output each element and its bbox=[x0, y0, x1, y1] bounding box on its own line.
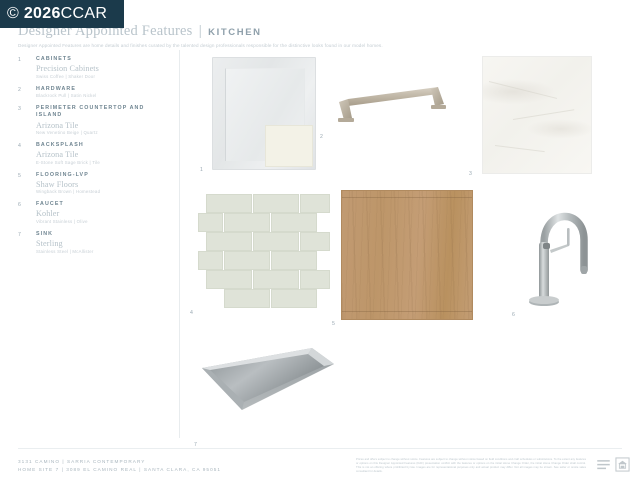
header-description: Designer Appointed Features are home det… bbox=[18, 43, 626, 48]
tile-brick bbox=[300, 232, 330, 251]
backsplash-tile-image: 4 bbox=[194, 192, 336, 308]
features-list: 1 CABINETS Precision Cabinets Swiss Coff… bbox=[18, 56, 170, 261]
copyright-icon: © bbox=[7, 5, 19, 22]
feature-brand: Arizona Tile bbox=[36, 121, 170, 130]
tile-brick bbox=[253, 270, 299, 289]
plank-seam bbox=[342, 197, 472, 198]
quartz-vein bbox=[489, 81, 557, 99]
footer-logos bbox=[596, 457, 630, 472]
feature-number: 7 bbox=[18, 232, 21, 238]
feature-item-backsplash: 4 BACKSPLASH Arizona Tile E-Stone Soft S… bbox=[18, 142, 170, 165]
feature-item-sink: 7 SINK Sterling Stainless Steel | McAlli… bbox=[18, 231, 170, 254]
feature-detail: E-Stone Soft Sage Brick | Tile bbox=[36, 160, 170, 165]
footer-disclaimer-block: Prices and offers subject to change with… bbox=[356, 458, 586, 474]
feature-number: 1 bbox=[18, 57, 21, 63]
tile-brick bbox=[206, 194, 252, 213]
feature-category: FAUCET bbox=[36, 201, 170, 208]
tile-brick bbox=[198, 251, 223, 270]
sink-image: 7 bbox=[196, 340, 338, 422]
feature-item-hardware: 2 HARDWARE Blackrock Pull | Satin Nickel bbox=[18, 86, 170, 99]
tile-brick bbox=[253, 232, 299, 251]
lvp-flooring-image: 5 bbox=[341, 190, 473, 320]
quartz-vein bbox=[513, 109, 574, 120]
tile-brick bbox=[253, 194, 299, 213]
tile-brick bbox=[206, 232, 252, 251]
feature-number: 3 bbox=[18, 106, 21, 112]
vertical-divider bbox=[179, 50, 180, 438]
feature-detail: Stainless Steel | McAllister bbox=[36, 249, 170, 254]
feature-item-countertop: 3 PERIMETER COUNTERTOP AND ISLAND Arizon… bbox=[18, 105, 170, 135]
tile-brick bbox=[271, 289, 317, 308]
tile-brick bbox=[271, 251, 317, 270]
tile-brick bbox=[300, 194, 330, 213]
feature-detail: New Venetino Beige | Quartz bbox=[36, 130, 170, 135]
footer-line-2: HOME SITE 7 | 3089 EL CAMINO REAL | SANT… bbox=[18, 466, 221, 474]
watermark-org: CCAR bbox=[61, 5, 108, 22]
tile-brick bbox=[206, 270, 252, 289]
feature-number: 4 bbox=[18, 143, 21, 149]
title-divider: | bbox=[199, 22, 203, 38]
feature-item-faucet: 6 FAUCET Kohler Vibrant Stainless | Oliv… bbox=[18, 201, 170, 224]
sink-graphic bbox=[196, 340, 338, 422]
tile-brick bbox=[224, 251, 270, 270]
footer-line-1: 3131 CAMINO | SARRIA CONTEMPORARY bbox=[18, 458, 221, 466]
cabinet-pull-image: 2 bbox=[334, 80, 452, 130]
feature-category: HARDWARE bbox=[36, 86, 170, 93]
feature-item-flooring: 5 FLOORING-LVP Shaw Floors Wingback Brow… bbox=[18, 172, 170, 195]
tile-brick bbox=[224, 289, 270, 308]
faucet-graphic bbox=[524, 188, 592, 310]
feature-category: BACKSPLASH bbox=[36, 142, 170, 149]
legal-disclaimer: Prices and offers subject to change with… bbox=[356, 458, 586, 474]
feature-brand: Kohler bbox=[36, 209, 170, 218]
gallery-caption: 6 bbox=[512, 312, 515, 318]
gallery-caption: 1 bbox=[200, 167, 203, 173]
plank-seam bbox=[342, 311, 472, 312]
footer-divider bbox=[18, 448, 622, 449]
copyright-watermark: © 2026CCAR bbox=[0, 0, 124, 28]
gallery-caption: 2 bbox=[320, 134, 323, 140]
page-subtitle: KITCHEN bbox=[208, 27, 261, 38]
feature-brand: Sterling bbox=[36, 239, 170, 248]
feature-brand: Precision Cabinets bbox=[36, 64, 170, 73]
tile-brick bbox=[271, 213, 317, 232]
feature-category: FLOORING-LVP bbox=[36, 172, 170, 179]
feature-number: 6 bbox=[18, 202, 21, 208]
watermark-year: 2026 bbox=[24, 5, 61, 22]
feature-brand: Shaw Floors bbox=[36, 180, 170, 189]
pull-handle-graphic bbox=[334, 80, 452, 130]
feature-number: 2 bbox=[18, 87, 21, 93]
feature-number: 5 bbox=[18, 173, 21, 179]
faucet-image: 6 bbox=[524, 188, 592, 310]
feature-detail: Vibrant Stainless | Olive bbox=[36, 219, 170, 224]
feature-category: PERIMETER COUNTERTOP AND ISLAND bbox=[36, 105, 170, 119]
gallery-caption: 3 bbox=[469, 171, 472, 177]
feature-detail: Blackrock Pull | Satin Nickel bbox=[36, 93, 170, 98]
tile-brick bbox=[300, 270, 330, 289]
feature-item-cabinets: 1 CABINETS Precision Cabinets Swiss Coff… bbox=[18, 56, 170, 79]
gallery-caption: 4 bbox=[190, 310, 193, 316]
quartz-countertop-image: 3 bbox=[482, 56, 592, 174]
quartz-vein bbox=[495, 145, 545, 152]
feature-category: SINK bbox=[36, 231, 170, 238]
cabinet-color-swatch bbox=[265, 125, 313, 167]
designer-features-sheet: © 2026CCAR Designer Appointed Features |… bbox=[0, 0, 640, 494]
feature-detail: Wingback Brown | Homestead bbox=[36, 189, 170, 194]
watermark-label: © 2026CCAR bbox=[7, 5, 107, 23]
tile-brick bbox=[198, 213, 223, 232]
realtor-icon bbox=[596, 457, 611, 472]
footer-address: 3131 CAMINO | SARRIA CONTEMPORARY HOME S… bbox=[18, 458, 221, 474]
cabinet-door-image: 1 bbox=[212, 57, 316, 170]
feature-category: CABINETS bbox=[36, 56, 170, 63]
gallery-caption: 5 bbox=[332, 321, 335, 327]
equal-housing-opportunity-icon bbox=[615, 457, 630, 472]
feature-detail: Swiss Coffee | Shaker Door bbox=[36, 74, 170, 79]
tile-brick bbox=[224, 213, 270, 232]
feature-brand: Arizona Tile bbox=[36, 150, 170, 159]
